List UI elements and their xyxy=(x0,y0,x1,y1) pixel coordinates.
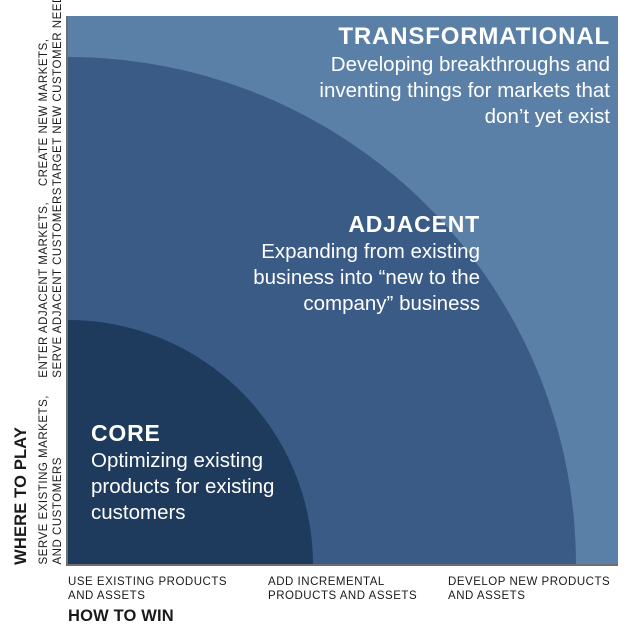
zone-label-transformational: TRANSFORMATIONAL Developing breakthrough… xyxy=(310,24,610,130)
zone-label-adjacent: ADJACENT Expanding from existing busines… xyxy=(230,212,480,317)
diagram-canvas: TRANSFORMATIONAL Developing breakthrough… xyxy=(0,0,632,638)
y-axis-line xyxy=(66,16,68,565)
x-axis-tick-transformational: DEVELOP NEW PRODUCTS AND ASSETS xyxy=(448,576,610,604)
zone-title-core: CORE xyxy=(91,421,321,445)
x-axis-tick-adjacent: ADD INCREMENTAL PRODUCTS AND ASSETS xyxy=(268,576,417,604)
zone-body-adjacent: Expanding from existing business into “n… xyxy=(230,239,480,317)
y-axis-title: WHERE TO PLAY xyxy=(12,427,31,565)
x-axis-line xyxy=(66,564,618,566)
x-axis-title: HOW TO WIN xyxy=(68,607,174,626)
y-axis-tick-adjacent: ENTER ADJACENT MARKETS, SERVE ADJACENT C… xyxy=(38,187,66,378)
y-axis-tick-transformational: CREATE NEW MARKETS, TARGET NEW CUSTOMER … xyxy=(38,0,66,186)
zone-label-core: CORE Optimizing existing products for ex… xyxy=(91,421,321,526)
zone-body-transformational: Developing breakthroughs and inventing t… xyxy=(310,52,610,130)
x-axis-tick-core: USE EXISTING PRODUCTS AND ASSETS xyxy=(68,576,227,604)
zone-title-adjacent: ADJACENT xyxy=(230,212,480,236)
y-axis-tick-core: SERVE EXISTING MARKETS, AND CUSTOMERS xyxy=(38,395,66,565)
zone-title-transformational: TRANSFORMATIONAL xyxy=(310,24,610,49)
zone-body-core: Optimizing existing products for existin… xyxy=(91,448,321,526)
